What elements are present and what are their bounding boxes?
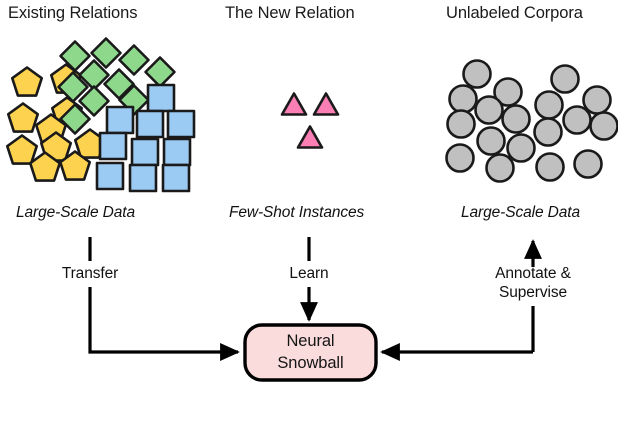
edge-label-learn: Learn	[259, 264, 359, 283]
edge-label-annotate-line2: Supervise	[499, 284, 567, 301]
edge-label-annotate-line1: Annotate &	[495, 265, 571, 282]
connector-transfer	[90, 237, 238, 352]
edge-label-transfer: Transfer	[40, 264, 140, 283]
process-box-label-line2: Snowball	[277, 354, 343, 372]
process-box-label-line1: Neural	[286, 332, 334, 350]
process-box-label: Neural Snowball	[245, 330, 376, 374]
neural-snowball-diagram: Existing Relations The New Relation Unla…	[0, 0, 618, 422]
edge-label-annotate-supervise: Annotate & Supervise	[473, 264, 593, 302]
